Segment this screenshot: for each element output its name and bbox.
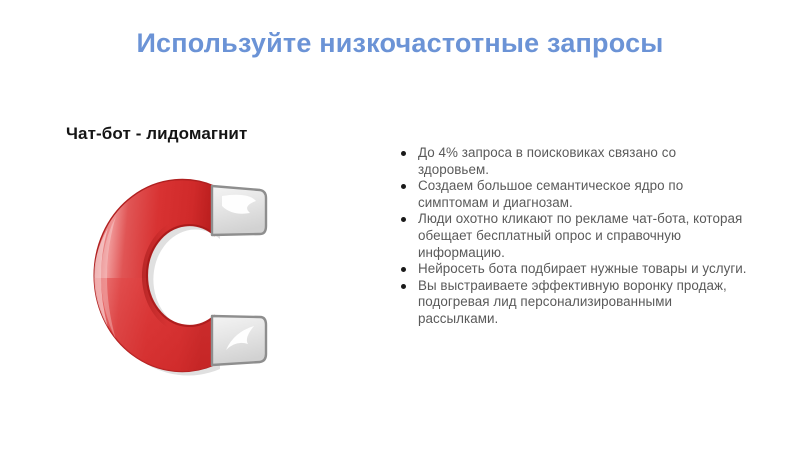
bullet-list: До 4% запроса в поисковиках связано со з… bbox=[400, 145, 750, 328]
list-item: До 4% запроса в поисковиках связано со з… bbox=[400, 145, 750, 178]
bullet-dot-icon bbox=[401, 151, 406, 156]
bullet-dot-icon bbox=[401, 284, 406, 289]
list-item-label: Создаем большое семантическое ядро по си… bbox=[418, 178, 683, 210]
list-item-label: Люди охотно кликают по рекламе чат-бота,… bbox=[418, 211, 742, 259]
list-item-label: Вы выстраиваете эффективную воронку прод… bbox=[418, 278, 727, 326]
list-item-label: До 4% запроса в поисковиках связано со з… bbox=[418, 145, 676, 177]
bullet-dot-icon bbox=[401, 217, 406, 222]
list-item: Люди охотно кликают по рекламе чат-бота,… bbox=[400, 211, 750, 261]
list-item: Создаем большое семантическое ядро по си… bbox=[400, 178, 750, 211]
section-heading: Чат-бот - лидомагнит bbox=[66, 123, 247, 145]
bullet-dot-icon bbox=[401, 184, 406, 189]
magnet-pole-north bbox=[212, 186, 266, 235]
list-item: Нейросеть бота подбирает нужные товары и… bbox=[400, 261, 750, 278]
magnet-illustration bbox=[64, 168, 274, 383]
list-item: Вы выстраиваете эффективную воронку прод… bbox=[400, 278, 750, 328]
list-item-label: Нейросеть бота подбирает нужные товары и… bbox=[418, 261, 747, 276]
page-title: Используйте низкочастотные запросы bbox=[0, 26, 800, 60]
magnet-pole-south bbox=[212, 316, 266, 365]
slide-canvas: Используйте низкочастотные запросы Чат-б… bbox=[0, 0, 800, 450]
bullet-dot-icon bbox=[401, 267, 406, 272]
